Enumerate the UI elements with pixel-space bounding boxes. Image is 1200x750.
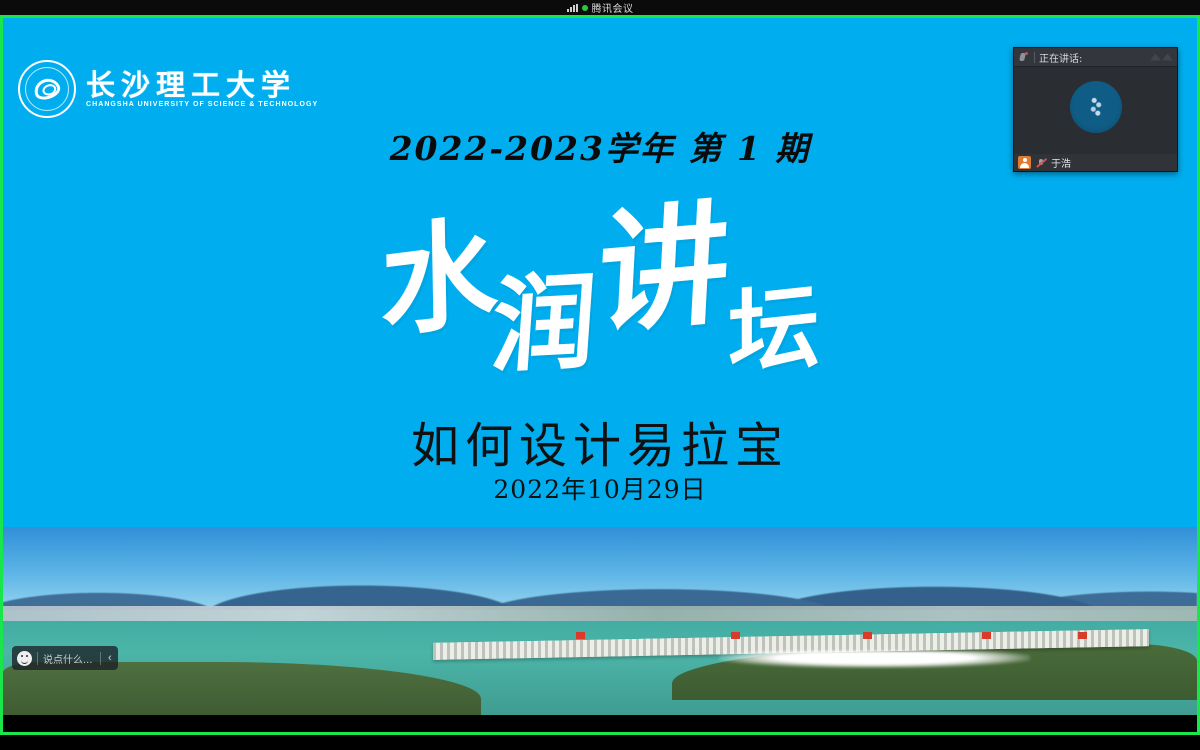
microphone-muted-icon[interactable] xyxy=(1035,157,1047,169)
chat-divider xyxy=(100,652,101,665)
university-seal-icon xyxy=(18,60,76,118)
three-gorges-dam-photo xyxy=(3,527,1197,715)
smiley-face-icon[interactable] xyxy=(17,651,32,666)
participant-video-panel[interactable]: 正在讲话: 于浩 xyxy=(1013,47,1178,172)
video-panel-body[interactable] xyxy=(1014,67,1177,154)
forum-title: 水 润 讲 坛 xyxy=(3,178,1197,378)
chat-input[interactable]: 说点什么... xyxy=(43,651,95,666)
video-panel-footer: 于浩 xyxy=(1014,154,1177,171)
signal-bars-icon xyxy=(567,4,578,12)
participant-icon xyxy=(1018,156,1031,169)
photo-far-bank xyxy=(3,606,1197,621)
green-status-dot xyxy=(582,5,588,11)
participant-name: 于浩 xyxy=(1051,155,1071,170)
user-avatar-placeholder xyxy=(1070,81,1122,133)
header-divider xyxy=(1034,52,1035,63)
slide-date: 2022年10月29日 xyxy=(3,470,1197,506)
chat-input-widget[interactable]: 说点什么... ‹ xyxy=(12,646,118,670)
slide-subtitle: 如何设计易拉宝 xyxy=(3,406,1197,476)
forum-title-char-2: 润 xyxy=(488,269,599,379)
speaking-label: 正在讲话: xyxy=(1039,50,1082,65)
forum-title-char-1: 水 xyxy=(379,211,498,344)
university-name-en: CHANGSHA UNIVERSITY OF SCIENCE & TECHNOL… xyxy=(86,101,318,108)
photo-spillway-water xyxy=(719,651,1029,668)
chevron-left-icon[interactable]: ‹ xyxy=(106,653,114,664)
video-panel-header[interactable]: 正在讲话: xyxy=(1014,48,1177,67)
forum-title-char-4: 坛 xyxy=(728,279,820,381)
collapse-chevrons-icon[interactable] xyxy=(1150,52,1173,63)
meeting-topbar: 腾讯会议 xyxy=(0,0,1200,15)
chat-divider xyxy=(37,652,38,665)
university-logo: 长沙理工大学 CHANGSHA UNIVERSITY OF SCIENCE & … xyxy=(18,60,318,118)
university-name-cn: 长沙理工大学 xyxy=(86,70,318,100)
topbar-app-title: 腾讯会议 xyxy=(592,0,634,15)
tencent-meeting-screen-share-view: 腾讯会议 长沙理工大学 CHANGSHA UNIVERSITY OF SCIEN… xyxy=(0,0,1200,750)
forum-title-char-3: 讲 xyxy=(595,198,733,343)
speaking-indicator-icon xyxy=(1018,51,1030,63)
